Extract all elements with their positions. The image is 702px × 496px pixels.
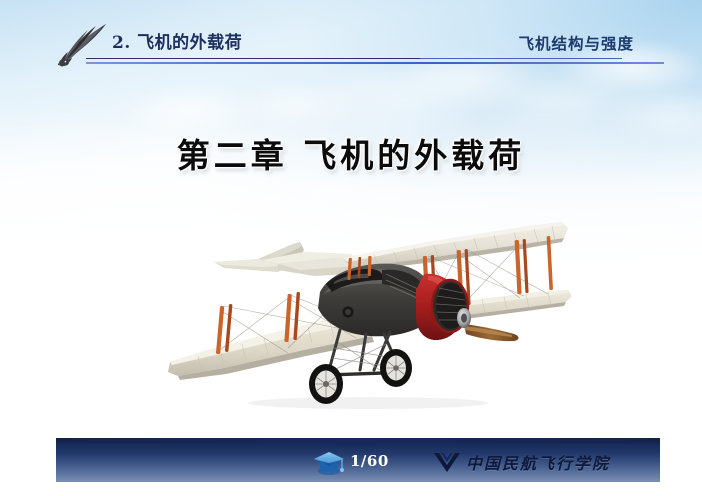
header-divider-lower xyxy=(86,62,664,64)
header-divider-upper-left xyxy=(86,58,420,59)
header-divider-upper-right xyxy=(420,58,622,59)
institution-name: 中国民航飞行学院 xyxy=(466,450,610,474)
header-section-title: 2. 飞机的外载荷 xyxy=(112,28,242,53)
presentation-slide: 2. 飞机的外载荷 飞机结构与强度 第二章 飞机的外载荷 xyxy=(0,0,702,496)
page-title: 第二章 飞机的外载荷 xyxy=(0,129,702,177)
upper-wing xyxy=(342,222,568,271)
v-mark-icon xyxy=(432,450,462,474)
graduation-cap-icon xyxy=(313,448,345,476)
vintage-biplane-image xyxy=(128,198,580,412)
page-indicator: 1/60 xyxy=(350,452,389,470)
engine-cowling xyxy=(416,274,468,340)
header-course-title: 飞机结构与强度 xyxy=(518,32,634,54)
slide-header: 2. 飞机的外载荷 飞机结构与强度 xyxy=(0,0,702,74)
